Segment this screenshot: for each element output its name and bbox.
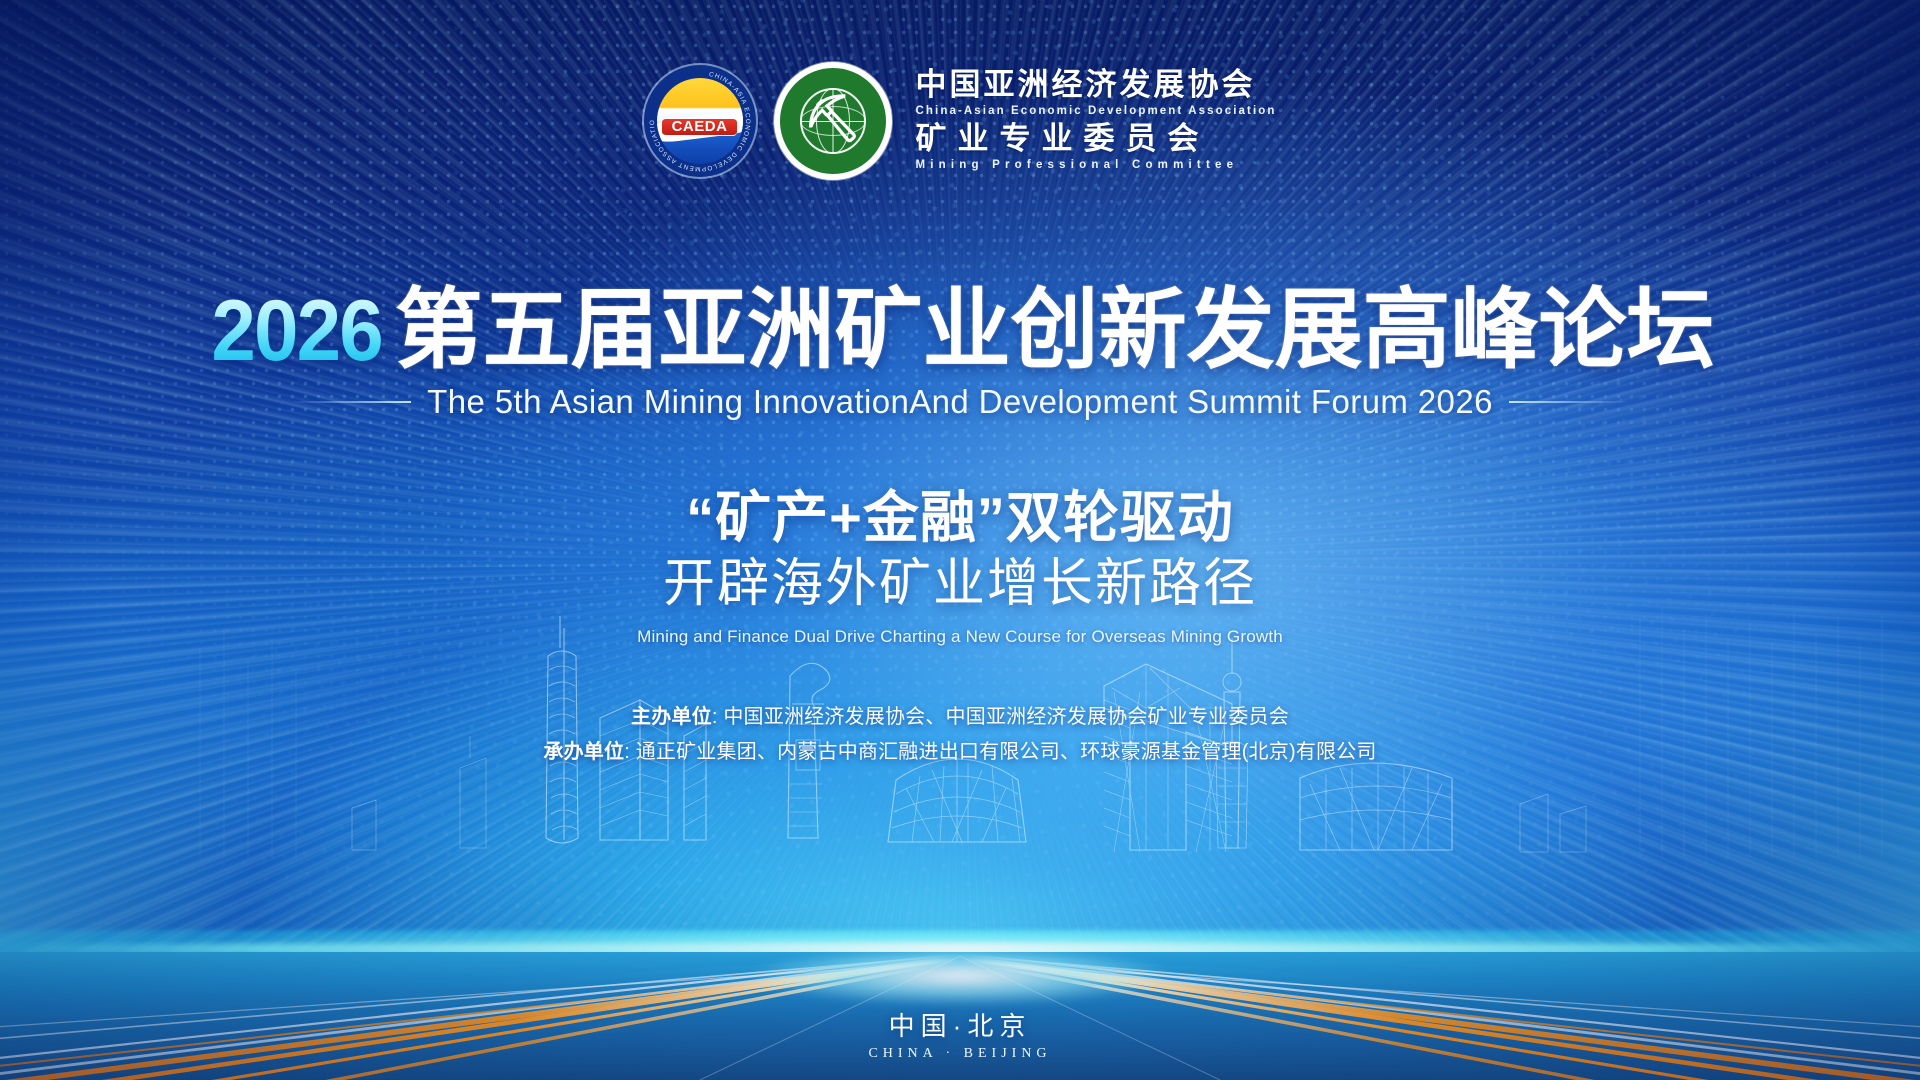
mining-professional-committee-logo: ⛏	[774, 62, 892, 180]
host-organizer-line: 主办单位: 中国亚洲经济发展协会、中国亚洲经济发展协会矿业专业委员会	[0, 700, 1920, 735]
title-main-en: The 5th Asian Mining InnovationAnd Devel…	[427, 384, 1493, 420]
organizers-block: 主办单位: 中国亚洲经济发展协会、中国亚洲经济发展协会矿业专业委员会 承办单位:…	[0, 700, 1920, 770]
slogan-line-en: Mining and Finance Dual Drive Charting a…	[0, 625, 1920, 649]
caeda-logo: CAEDA CHINA-ASIA ECONOMIC DEVELOPMENT AS…	[644, 65, 756, 177]
association-name-block: 中国亚洲经济发展协会 China-Asian Economic Developm…	[916, 68, 1277, 174]
slogan-block: “矿产+金融”双轮驱动 开辟海外矿业增长新路径 Mining and Finan…	[0, 487, 1920, 649]
title-main-cn: 第五届亚洲矿业创新发展高峰论坛	[395, 286, 1715, 374]
slogan-line-2: 开辟海外矿业增长新路径	[0, 554, 1920, 615]
host-organizer-label: 主办单位	[631, 706, 712, 728]
host-organizer-value: : 中国亚洲经济发展协会、中国亚洲经济发展协会矿业专业委员会	[712, 706, 1289, 728]
main-title-en-row: The 5th Asian Mining InnovationAnd Devel…	[0, 384, 1920, 420]
association-name-en: China-Asian Economic Development Associa…	[916, 103, 1277, 120]
svg-text:CHINA-ASIA ECONOMIC DEVELOPMEN: CHINA-ASIA ECONOMIC DEVELOPMENT ASSOCIAT…	[644, 65, 751, 172]
rule-left	[291, 401, 411, 403]
association-name-cn: 中国亚洲经济发展协会	[916, 68, 1277, 103]
co-organizer-value: : 通正矿业集团、内蒙古中商汇融进出口有限公司、环球豪源基金管理(北京)有限公司	[624, 741, 1376, 763]
co-organizer-line: 承办单位: 通正矿业集团、内蒙古中商汇融进出口有限公司、环球豪源基金管理(北京)…	[0, 735, 1920, 770]
event-poster: CAEDA CHINA-ASIA ECONOMIC DEVELOPMENT AS…	[0, 0, 1920, 1080]
city-name-en: CHINA · BEIJING	[0, 1045, 1920, 1063]
city-label-block: 中国·北京 CHINA · BEIJING	[0, 1012, 1920, 1063]
main-title-block: 2026 第五届亚洲矿业创新发展高峰论坛 The 5th Asian Minin…	[0, 286, 1920, 420]
crossed-hammers-icon: ⛏	[780, 96, 886, 142]
mpc-green-disc: ⛏	[778, 66, 888, 176]
title-year: 2026	[212, 288, 382, 374]
main-title-row: 2026 第五届亚洲矿业创新发展高峰论坛	[0, 286, 1920, 374]
committee-name-cn: 矿业专业委员会	[916, 122, 1277, 157]
city-name-cn: 中国·北京	[0, 1012, 1920, 1042]
vanishing-point-glow	[750, 952, 1170, 1006]
rule-right	[1509, 401, 1629, 403]
header-logo-bar: CAEDA CHINA-ASIA ECONOMIC DEVELOPMENT AS…	[0, 62, 1920, 180]
slogan-line-1: “矿产+金融”双轮驱动	[0, 487, 1920, 550]
co-organizer-label: 承办单位	[543, 741, 624, 763]
committee-name-en: Mining Professional Committee	[916, 157, 1277, 174]
caeda-ring-text: CHINA-ASIA ECONOMIC DEVELOPMENT ASSOCIAT…	[644, 65, 756, 177]
